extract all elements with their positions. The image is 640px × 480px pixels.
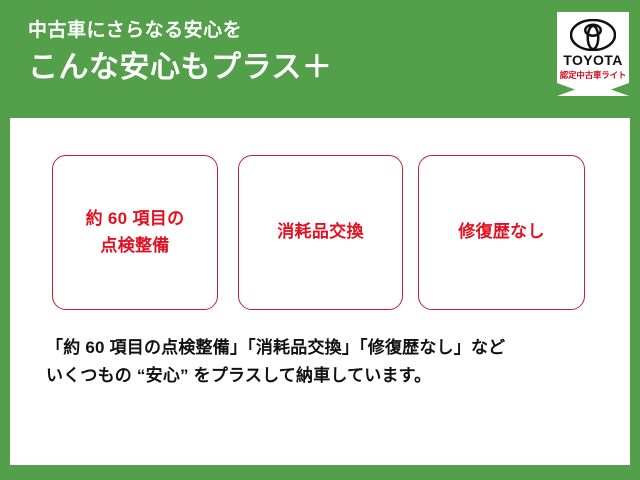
header-text-group: 中古車にさらなる安心を こんな安心もプラス＋ [28,20,332,86]
feature-box-inspection: 約 60 項目の 点検整備 [52,155,218,310]
feature-box-no-accident-history: 修復歴なし [418,155,585,310]
toyota-logo-badge: TOYOTA 認定中古車ライト [557,12,629,96]
feature-label: 修復歴なし [458,219,545,245]
feature-label: 消耗品交換 [277,219,364,245]
feature-box-consumables: 消耗品交換 [238,155,403,310]
toyota-certified-tagline: 認定中古車ライト [557,69,629,81]
header-band: 中古車にさらなる安心を こんな安心もプラス＋ TOYOTA 認定中古車ライト [0,0,640,118]
page-title: こんな安心もプラス＋ [28,49,332,87]
feature-box-group: 約 60 項目の 点検整備 消耗品交換 修復歴なし [52,155,585,310]
badge-bottom-notch [557,83,629,96]
content-panel: 約 60 項目の 点検整備 消耗品交換 修復歴なし 「約 60 項目の点検整備」… [10,118,630,465]
feature-label: 約 60 項目の 点検整備 [86,206,185,259]
header-subtitle: 中古車にさらなる安心を [28,20,332,43]
toyota-wordmark: TOYOTA [557,52,629,68]
caption-block: 「約 60 項目の点検整備」「消耗品交換」「修復歴なし」など いくつもの “安心… [46,334,606,389]
caption-line-1: 「約 60 項目の点検整備」「消耗品交換」「修復歴なし」など [46,334,606,362]
caption-line-2: いくつもの “安心” をプラスして納車しています。 [46,362,606,390]
promo-poster: 中古車にさらなる安心を こんな安心もプラス＋ TOYOTA 認定中古車ライト 約… [0,0,640,480]
toyota-emblem-icon [570,19,616,51]
